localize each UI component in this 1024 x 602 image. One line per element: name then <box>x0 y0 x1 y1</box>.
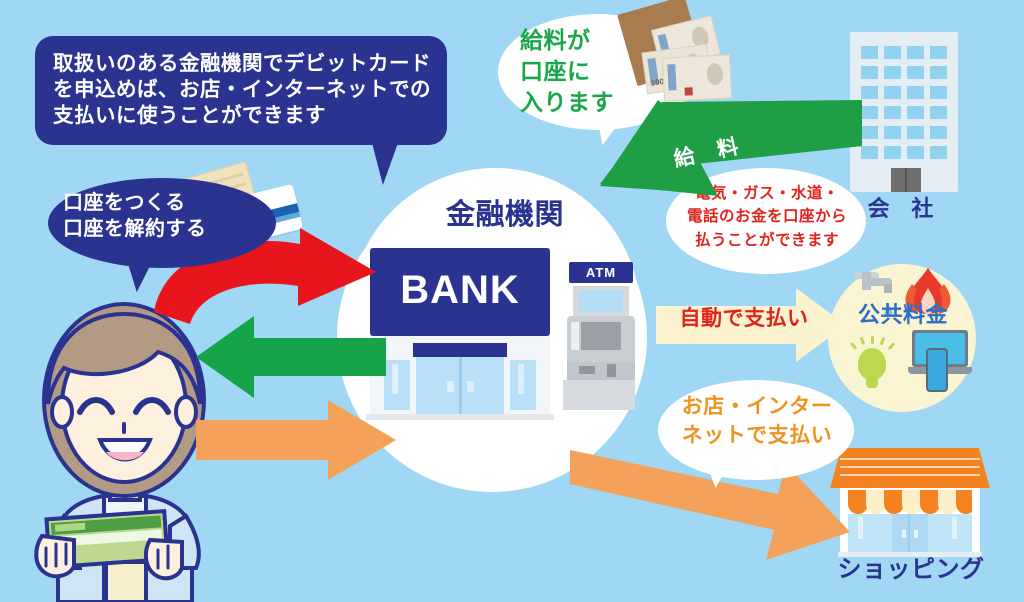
salary-bubble-line2: 口座に <box>520 57 640 88</box>
deposit-arrow <box>196 400 396 480</box>
company-window <box>930 66 947 79</box>
shop-roof <box>830 448 990 488</box>
shop-awning <box>848 490 972 514</box>
company-window <box>907 66 924 79</box>
company-building-icon <box>850 32 958 192</box>
withdraw-arrow <box>196 316 386 398</box>
company-window <box>884 106 901 119</box>
company-window <box>884 126 901 139</box>
company-window <box>930 146 947 159</box>
awning-stripe <box>848 490 868 514</box>
utilities-bubble-line3: 払うことができます <box>672 229 862 252</box>
shopping-bubble-text: お店・インター ネットで支払い <box>666 392 848 450</box>
company-window <box>907 146 924 159</box>
account-bubble-line1: 口座をつくる <box>63 190 273 216</box>
banknote-icon <box>662 54 732 101</box>
company-window <box>861 106 878 119</box>
bank-label: 金融機関 <box>410 196 600 233</box>
company-window <box>930 86 947 99</box>
bank-sign: BANK <box>370 248 550 336</box>
bank-building-icon: BANK <box>370 248 550 418</box>
company-window <box>861 146 878 159</box>
atm-icon: ATM <box>563 262 635 410</box>
callout-line1: 取扱いのある金融機関でデビットカード <box>53 50 431 76</box>
company-window <box>861 66 878 79</box>
utilities-bubble-line2: 電話のお金を口座から <box>672 205 862 228</box>
shopping-bubble-line2: ネットで支払い <box>666 421 848 450</box>
faucet-icon <box>846 272 892 302</box>
atm-label: ATM <box>569 265 633 280</box>
auto-pay-arrow-label: 自動で支払い <box>664 305 824 332</box>
company-window <box>884 146 901 159</box>
account-bubble-text: 口座をつくる 口座を解約する <box>63 190 273 241</box>
shop-label: ショッピング <box>826 554 996 585</box>
shop-icon <box>830 448 990 560</box>
awning-stripe <box>902 490 922 514</box>
company-window <box>884 46 901 59</box>
account-bubble-line2: 口座を解約する <box>63 216 273 242</box>
smartphone-icon <box>926 348 948 392</box>
company-window <box>930 46 947 59</box>
company-window <box>930 106 947 119</box>
awning-stripe <box>884 490 904 514</box>
company-window <box>907 106 924 119</box>
company-window <box>861 46 878 59</box>
bank-door <box>416 357 504 415</box>
company-window <box>930 126 947 139</box>
company-window <box>884 66 901 79</box>
company-window <box>861 86 878 99</box>
lightbulb-icon <box>848 336 896 394</box>
atm-sign: ATM <box>569 262 633 283</box>
awning-stripe <box>956 490 972 514</box>
company-window <box>907 126 924 139</box>
shopping-bubble-line1: お店・インター <box>666 392 848 421</box>
awning-stripe <box>920 490 940 514</box>
company-window <box>861 126 878 139</box>
utilities-label: 公共料金 <box>836 302 970 330</box>
bank-window-right <box>510 360 536 410</box>
company-window <box>907 46 924 59</box>
main-callout: 取扱いのある金融機関でデビットカード を申込めば、お店・インターネットでの 支払… <box>35 36 447 145</box>
company-window <box>884 86 901 99</box>
atm-display <box>573 286 629 316</box>
infographic-canvas: 給 料 給料が 口座に 入ります 10000 会 社 電気・ガス・水道・ 電話の… <box>0 0 1024 602</box>
callout-line3: 支払いに使うことができます <box>53 102 431 128</box>
bank-sign-text: BANK <box>370 268 550 313</box>
company-door <box>891 168 921 192</box>
callout-tail <box>372 143 398 185</box>
callout-line2: を申込めば、お店・インターネットでの <box>53 76 431 102</box>
company-window <box>907 86 924 99</box>
awning-stripe <box>938 490 958 514</box>
shop-window <box>848 514 972 552</box>
awning-stripe <box>866 490 886 514</box>
